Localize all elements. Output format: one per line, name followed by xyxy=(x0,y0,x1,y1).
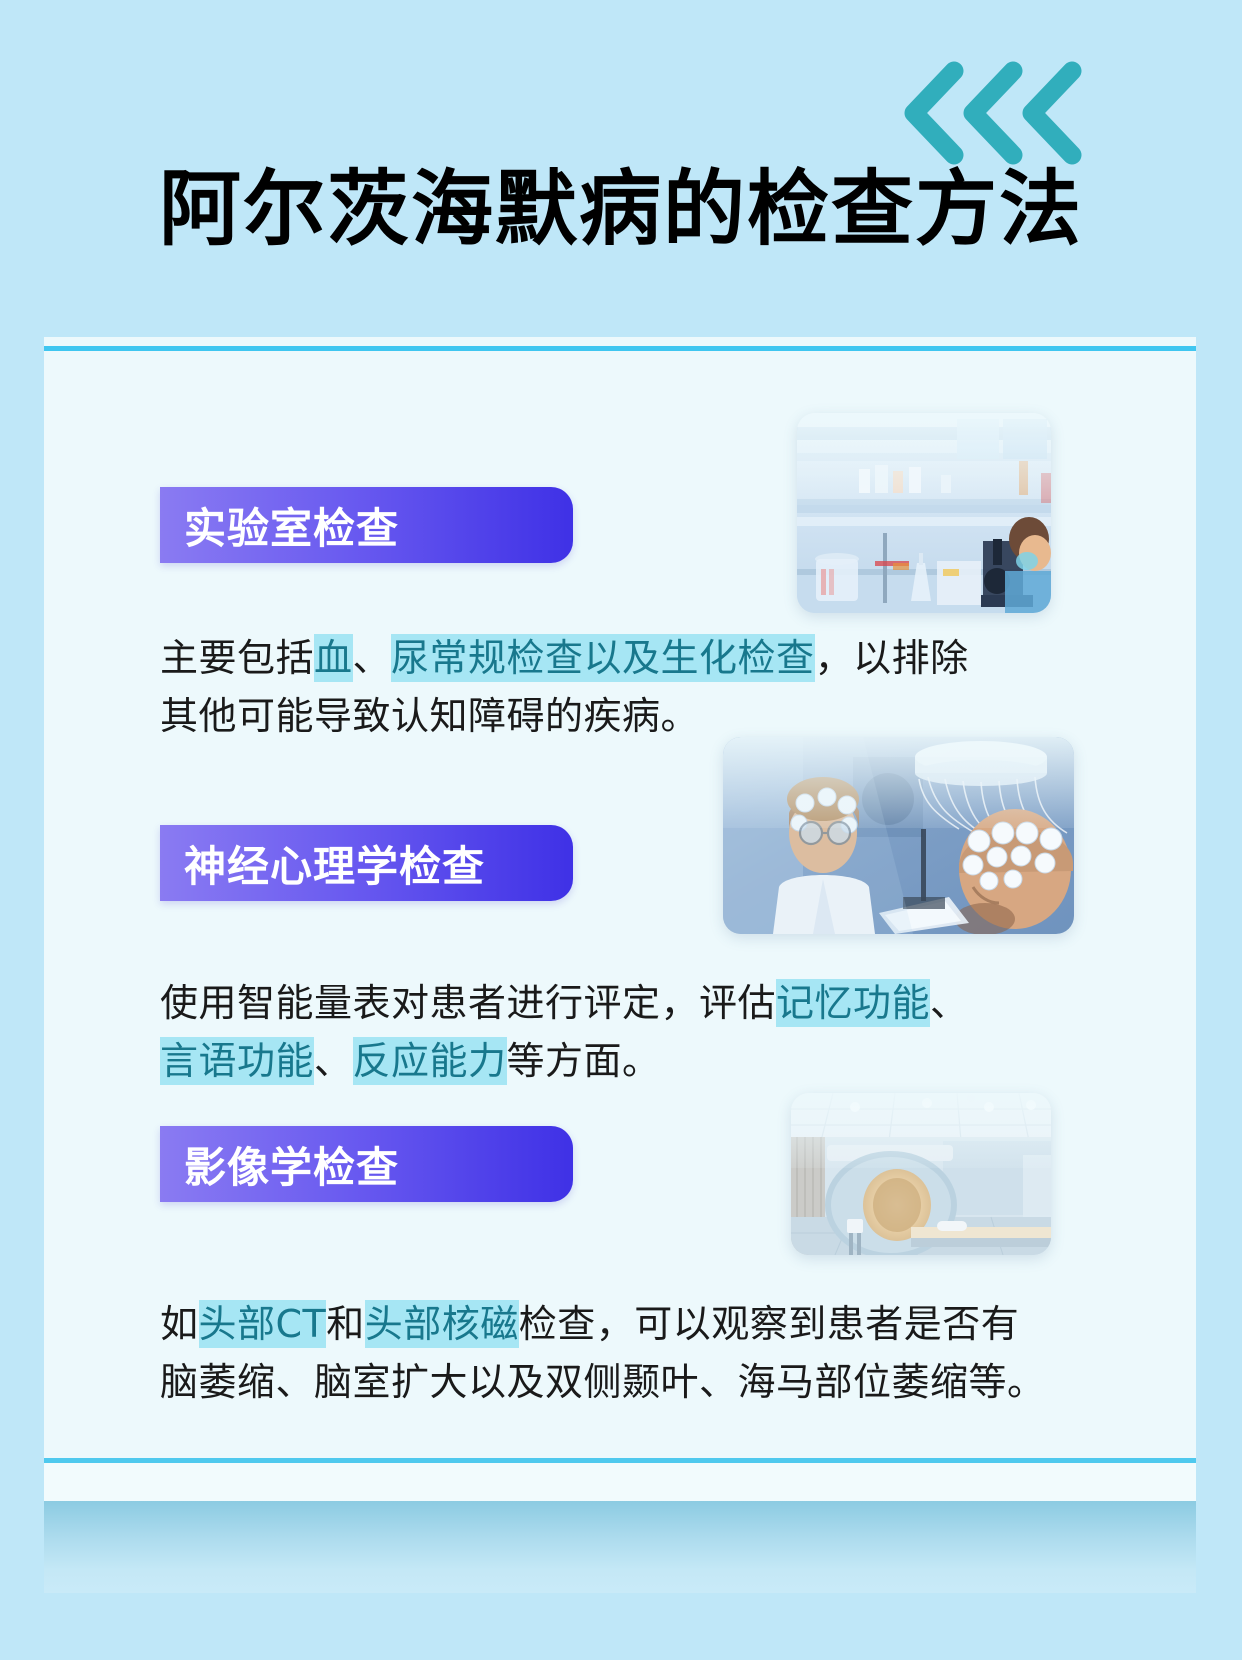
paragraph-text: 、 xyxy=(930,981,969,1025)
section-badge-imaging[interactable]: 影像学检查 xyxy=(160,1126,573,1202)
image-eeg-brain-monitoring xyxy=(723,737,1074,934)
chevron-decoration xyxy=(900,58,1090,168)
paragraph-text: 其他可能导致认知障碍的疾病。 xyxy=(160,694,699,738)
paragraph-text: 等方面。 xyxy=(507,1039,661,1083)
section-badge-label: 影像学检查 xyxy=(184,1134,399,1195)
section-paragraph-neuropsychological: 使用智能量表对患者进行评定，评估记忆功能、言语功能、反应能力等方面。 xyxy=(160,975,1040,1091)
paragraph-text: 、 xyxy=(314,1039,353,1083)
mri-photo-illustration xyxy=(791,1093,1051,1255)
paragraph-text: 脑萎缩、脑室扩大以及双侧颞叶、海马部位萎缩等。 xyxy=(160,1360,1046,1404)
page-title: 阿尔茨海默病的检查方法 xyxy=(0,166,1242,255)
section-paragraph-imaging: 如头部CT和头部核磁检查，可以观察到患者是否有脑萎缩、脑室扩大以及双侧颞叶、海马… xyxy=(160,1296,1080,1412)
highlighted-term: 头部CT xyxy=(199,1300,327,1348)
poster-root: 阿尔茨海默病的检查方法 实验室检查 主要包括血、尿常规检查以及生化检查，以排除其… xyxy=(0,0,1242,1660)
section-paragraph-laboratory: 主要包括血、尿常规检查以及生化检查，以排除其他可能导致认知障碍的疾病。 xyxy=(160,630,1040,746)
paragraph-text: 如 xyxy=(160,1302,199,1346)
section-badge-neuropsychological[interactable]: 神经心理学检查 xyxy=(160,825,573,901)
highlighted-term: 头部核磁 xyxy=(365,1300,519,1348)
section-badge-label: 神经心理学检查 xyxy=(184,833,485,894)
image-laboratory-scientist-microscope xyxy=(797,413,1051,613)
chevron-left-triple-icon xyxy=(900,58,1090,168)
footer-strip xyxy=(44,1463,1196,1501)
highlighted-term: 言语功能 xyxy=(160,1037,314,1085)
highlighted-term: 尿常规检查以及生化检查 xyxy=(391,634,815,682)
paragraph-text: 主要包括 xyxy=(160,636,314,680)
laboratory-photo-illustration xyxy=(797,413,1051,613)
paragraph-text: 、 xyxy=(353,636,392,680)
paragraph-text: 和 xyxy=(326,1302,365,1346)
paragraph-text: 使用智能量表对患者进行评定，评估 xyxy=(160,981,776,1025)
highlighted-term: 反应能力 xyxy=(353,1037,507,1085)
paragraph-text: ，以排除 xyxy=(815,636,969,680)
paragraph-text: 检查，可以观察到患者是否有 xyxy=(519,1302,1020,1346)
image-mri-scanner-room xyxy=(791,1093,1051,1255)
eeg-photo-illustration xyxy=(723,737,1074,934)
highlighted-term: 血 xyxy=(314,634,353,682)
footer-gradient-bar xyxy=(44,1501,1196,1593)
highlighted-term: 记忆功能 xyxy=(776,979,930,1027)
section-badge-laboratory[interactable]: 实验室检查 xyxy=(160,487,573,563)
card-top-divider xyxy=(44,346,1196,351)
section-badge-label: 实验室检查 xyxy=(184,495,399,556)
